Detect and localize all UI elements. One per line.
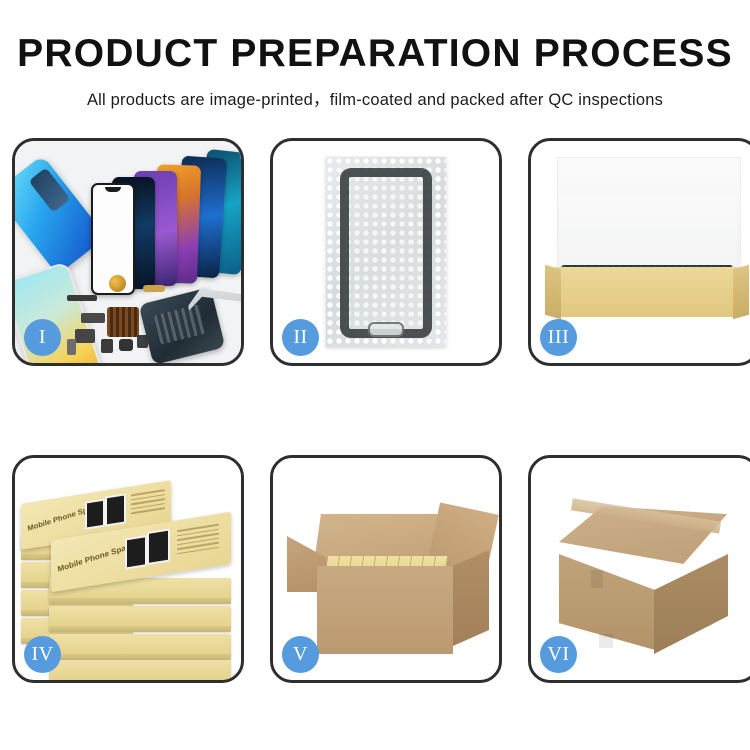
box-phone-image-icon (147, 528, 170, 565)
step-badge-1: I (24, 319, 61, 356)
retail-box (49, 606, 231, 632)
ribbon-cable-icon (81, 313, 105, 323)
box-spec-lines (177, 524, 219, 558)
process-step-card-1: I (12, 138, 244, 366)
box-phone-image-icon (85, 499, 105, 530)
step-badge-4: IV (24, 636, 61, 673)
carton-seam-upper-icon (591, 570, 603, 588)
camera-module-icon (75, 329, 95, 343)
process-step-card-4: Mobile Phone Spare Parts Mobile Phone Sp… (12, 455, 244, 683)
process-step-card-2: II (270, 138, 502, 366)
sealed-carton-side-icon (654, 554, 728, 654)
gold-connector-icon (143, 285, 165, 292)
step-badge-3: III (540, 319, 577, 356)
box-phone-image-icon (105, 493, 126, 526)
carton-front-panel-icon (317, 566, 453, 654)
flex-cable-icon (67, 295, 97, 301)
process-step-card-6: VI (528, 455, 750, 683)
kraft-box-base-icon (555, 267, 739, 317)
sim-tray-icon (67, 339, 76, 355)
carton-seam-lower-icon (599, 634, 613, 648)
process-step-card-5: V (270, 455, 502, 683)
step-badge-2: II (282, 319, 319, 356)
box-phone-image-icon (125, 535, 147, 569)
bubble-wrap-icon (326, 157, 446, 347)
page-subtitle: All products are image-printed，film-coat… (0, 86, 750, 110)
phone-fan-group (75, 151, 241, 286)
process-step-card-3: III (528, 138, 750, 366)
box-spec-lines (131, 489, 165, 517)
page-title: PRODUCT PREPARATION PROCESS (0, 34, 750, 75)
header: PRODUCT PREPARATION PROCESS All products… (0, 0, 750, 110)
copper-coil-icon (109, 275, 126, 292)
phone-glass-panel-icon (340, 168, 432, 338)
carton-side-panel-icon (453, 550, 489, 646)
step-badge-5: V (282, 636, 319, 673)
product-preparation-infographic: PRODUCT PREPARATION PROCESS All products… (0, 0, 750, 750)
retail-box (49, 660, 231, 680)
battery-connector-icon (119, 339, 133, 351)
speaker-icon (101, 339, 113, 353)
step-badge-6: VI (540, 636, 577, 673)
process-step-grid: I II III (12, 138, 738, 683)
chip-grid-icon (107, 307, 139, 337)
retail-box (49, 634, 231, 660)
